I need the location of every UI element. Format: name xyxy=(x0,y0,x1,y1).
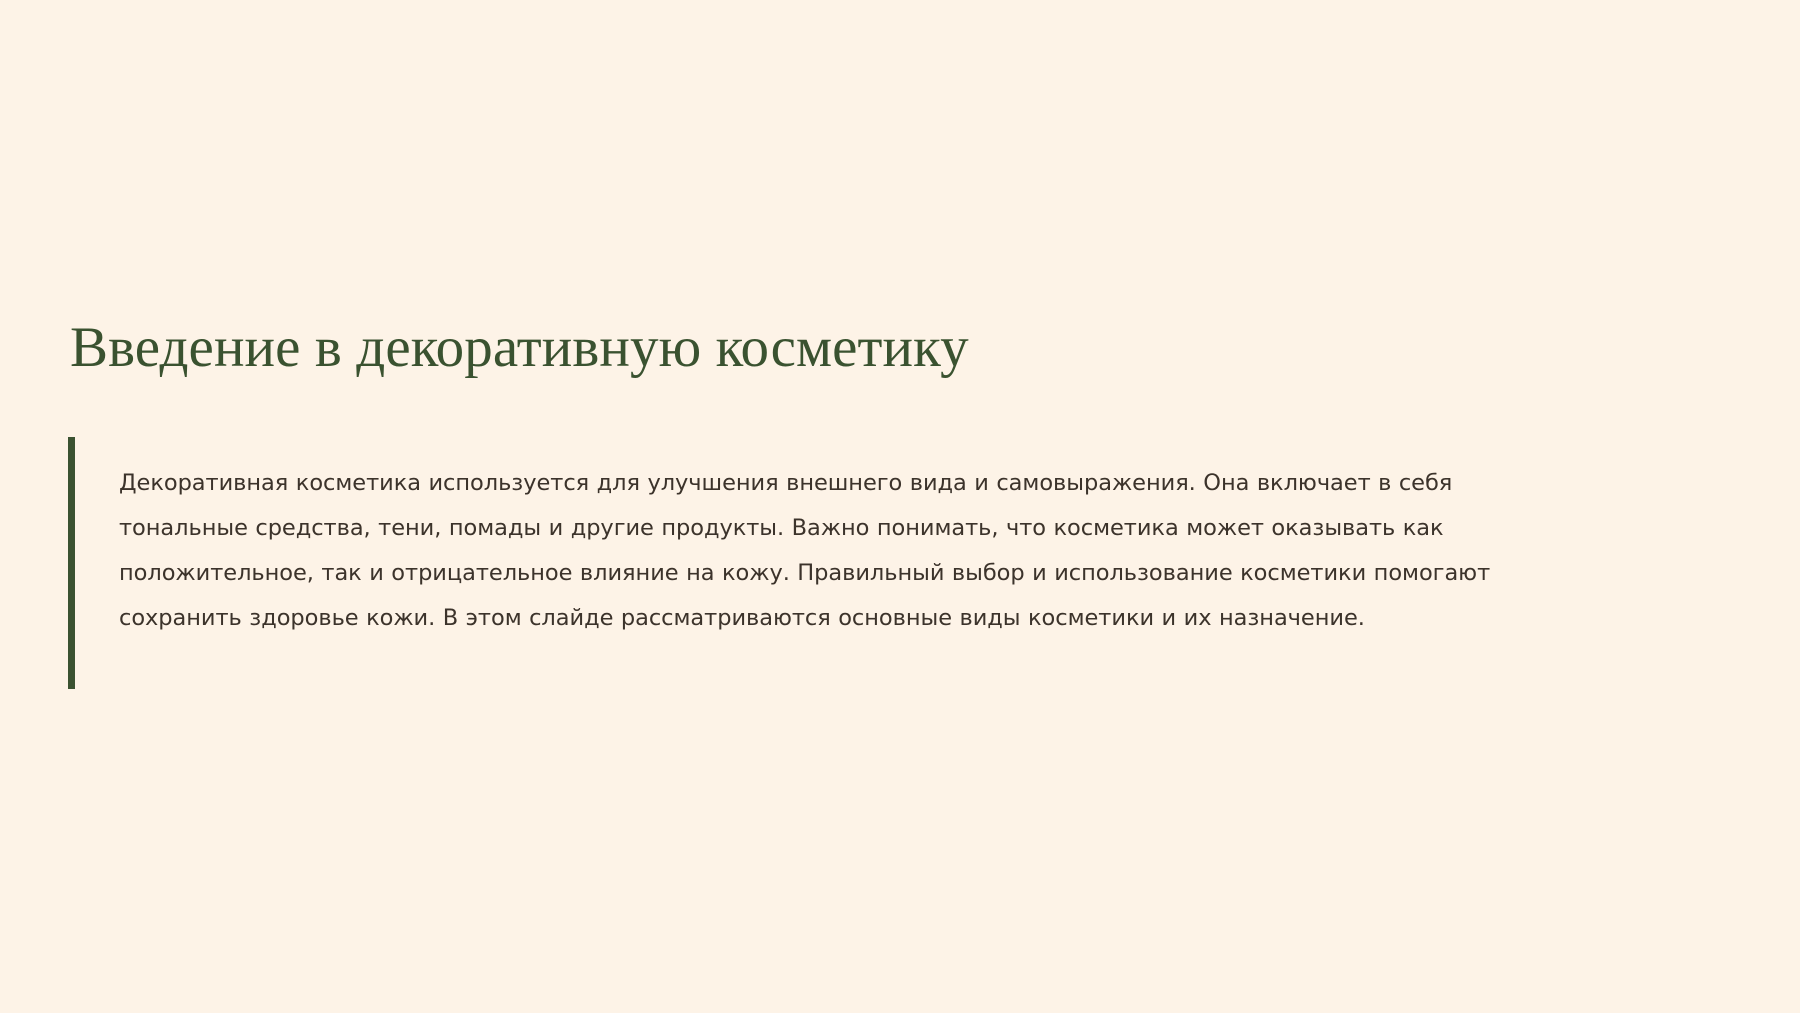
body-paragraph: Декоративная косметика используется для … xyxy=(119,461,1514,641)
body-text-container: Декоративная косметика используется для … xyxy=(75,437,1718,689)
accent-bar xyxy=(68,437,75,689)
body-content-block: Декоративная косметика используется для … xyxy=(68,437,1718,689)
presentation-slide: Введение в декоративную косметику Декора… xyxy=(0,0,1800,1013)
page-title: Введение в декоративную косметику xyxy=(70,314,1710,381)
